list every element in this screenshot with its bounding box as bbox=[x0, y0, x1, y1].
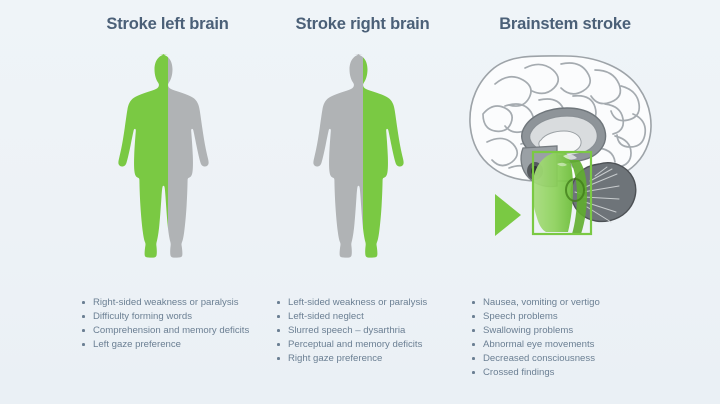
brainstem-highlight bbox=[532, 151, 587, 234]
list-item: Speech problems bbox=[472, 310, 677, 324]
list-item: Left-sided weakness or paralysis bbox=[277, 296, 477, 310]
list-item: Decreased consciousness bbox=[472, 352, 677, 366]
symptom-text: Perceptual and memory deficits bbox=[288, 339, 422, 350]
triangle-pointer-icon bbox=[495, 194, 521, 236]
symptom-text: Decreased consciousness bbox=[483, 353, 595, 364]
bullet-dot-icon bbox=[472, 329, 475, 332]
column-title-brainstem-stroke: Brainstem stroke bbox=[450, 14, 680, 34]
bullet-dot-icon bbox=[277, 329, 280, 332]
list-item: Nausea, vomiting or vertigo bbox=[472, 296, 677, 310]
list-item: Crossed findings bbox=[472, 366, 677, 380]
bullet-dot-icon bbox=[82, 343, 85, 346]
list-item: Left gaze preference bbox=[82, 338, 282, 352]
stroke-symptoms-infographic: Stroke left brain Right-sided weakness o… bbox=[0, 0, 720, 404]
column-title-stroke-right-brain: Stroke right brain bbox=[255, 14, 470, 34]
symptom-text: Abnormal eye movements bbox=[483, 339, 594, 350]
symptom-text: Right gaze preference bbox=[288, 353, 382, 364]
body-figure-left-brain bbox=[60, 52, 275, 280]
symptom-text: Slurred speech – dysarthria bbox=[288, 325, 405, 336]
list-item: Comprehension and memory deficits bbox=[82, 324, 282, 338]
list-item: Right gaze preference bbox=[277, 352, 477, 366]
bullet-dot-icon bbox=[472, 301, 475, 304]
symptom-list-stroke-left-brain: Right-sided weakness or paralysis Diffic… bbox=[82, 296, 282, 352]
bullet-dot-icon bbox=[82, 301, 85, 304]
bullet-dot-icon bbox=[472, 357, 475, 360]
symptom-text: Left gaze preference bbox=[93, 339, 181, 350]
bullet-dot-icon bbox=[82, 329, 85, 332]
brain-sagittal-figure bbox=[450, 48, 680, 280]
symptom-text: Speech problems bbox=[483, 311, 558, 322]
bullet-dot-icon bbox=[277, 301, 280, 304]
list-item: Difficulty forming words bbox=[82, 310, 282, 324]
symptom-text: Left-sided neglect bbox=[288, 311, 364, 322]
bullet-dot-icon bbox=[277, 357, 280, 360]
bullet-dot-icon bbox=[472, 371, 475, 374]
column-title-stroke-left-brain: Stroke left brain bbox=[60, 14, 275, 34]
list-item: Left-sided neglect bbox=[277, 310, 477, 324]
symptom-text: Crossed findings bbox=[483, 367, 554, 378]
list-item: Right-sided weakness or paralysis bbox=[82, 296, 282, 310]
symptom-text: Comprehension and memory deficits bbox=[93, 325, 249, 336]
symptom-text: Swallowing problems bbox=[483, 325, 573, 336]
bullet-dot-icon bbox=[277, 315, 280, 318]
symptom-list-brainstem-stroke: Nausea, vomiting or vertigo Speech probl… bbox=[472, 296, 677, 381]
list-item: Slurred speech – dysarthria bbox=[277, 324, 477, 338]
bullet-dot-icon bbox=[472, 315, 475, 318]
symptom-text: Nausea, vomiting or vertigo bbox=[483, 297, 600, 308]
bullet-dot-icon bbox=[277, 343, 280, 346]
symptom-text: Right-sided weakness or paralysis bbox=[93, 297, 239, 308]
column-brainstem-stroke: Brainstem stroke bbox=[450, 0, 680, 404]
body-halves-left-brain bbox=[103, 52, 233, 280]
list-item: Abnormal eye movements bbox=[472, 338, 677, 352]
symptom-text: Difficulty forming words bbox=[93, 311, 192, 322]
list-item: Swallowing problems bbox=[472, 324, 677, 338]
list-item: Perceptual and memory deficits bbox=[277, 338, 477, 352]
symptom-list-stroke-right-brain: Left-sided weakness or paralysis Left-si… bbox=[277, 296, 477, 366]
column-stroke-left-brain: Stroke left brain Right-sided weakness o… bbox=[60, 0, 275, 404]
bullet-dot-icon bbox=[82, 315, 85, 318]
symptom-text: Left-sided weakness or paralysis bbox=[288, 297, 427, 308]
body-figure-right-brain bbox=[255, 52, 470, 280]
bullet-dot-icon bbox=[472, 343, 475, 346]
column-stroke-right-brain: Stroke right brain Left-sided weakness o… bbox=[255, 0, 470, 404]
body-halves-right-brain bbox=[298, 52, 428, 280]
